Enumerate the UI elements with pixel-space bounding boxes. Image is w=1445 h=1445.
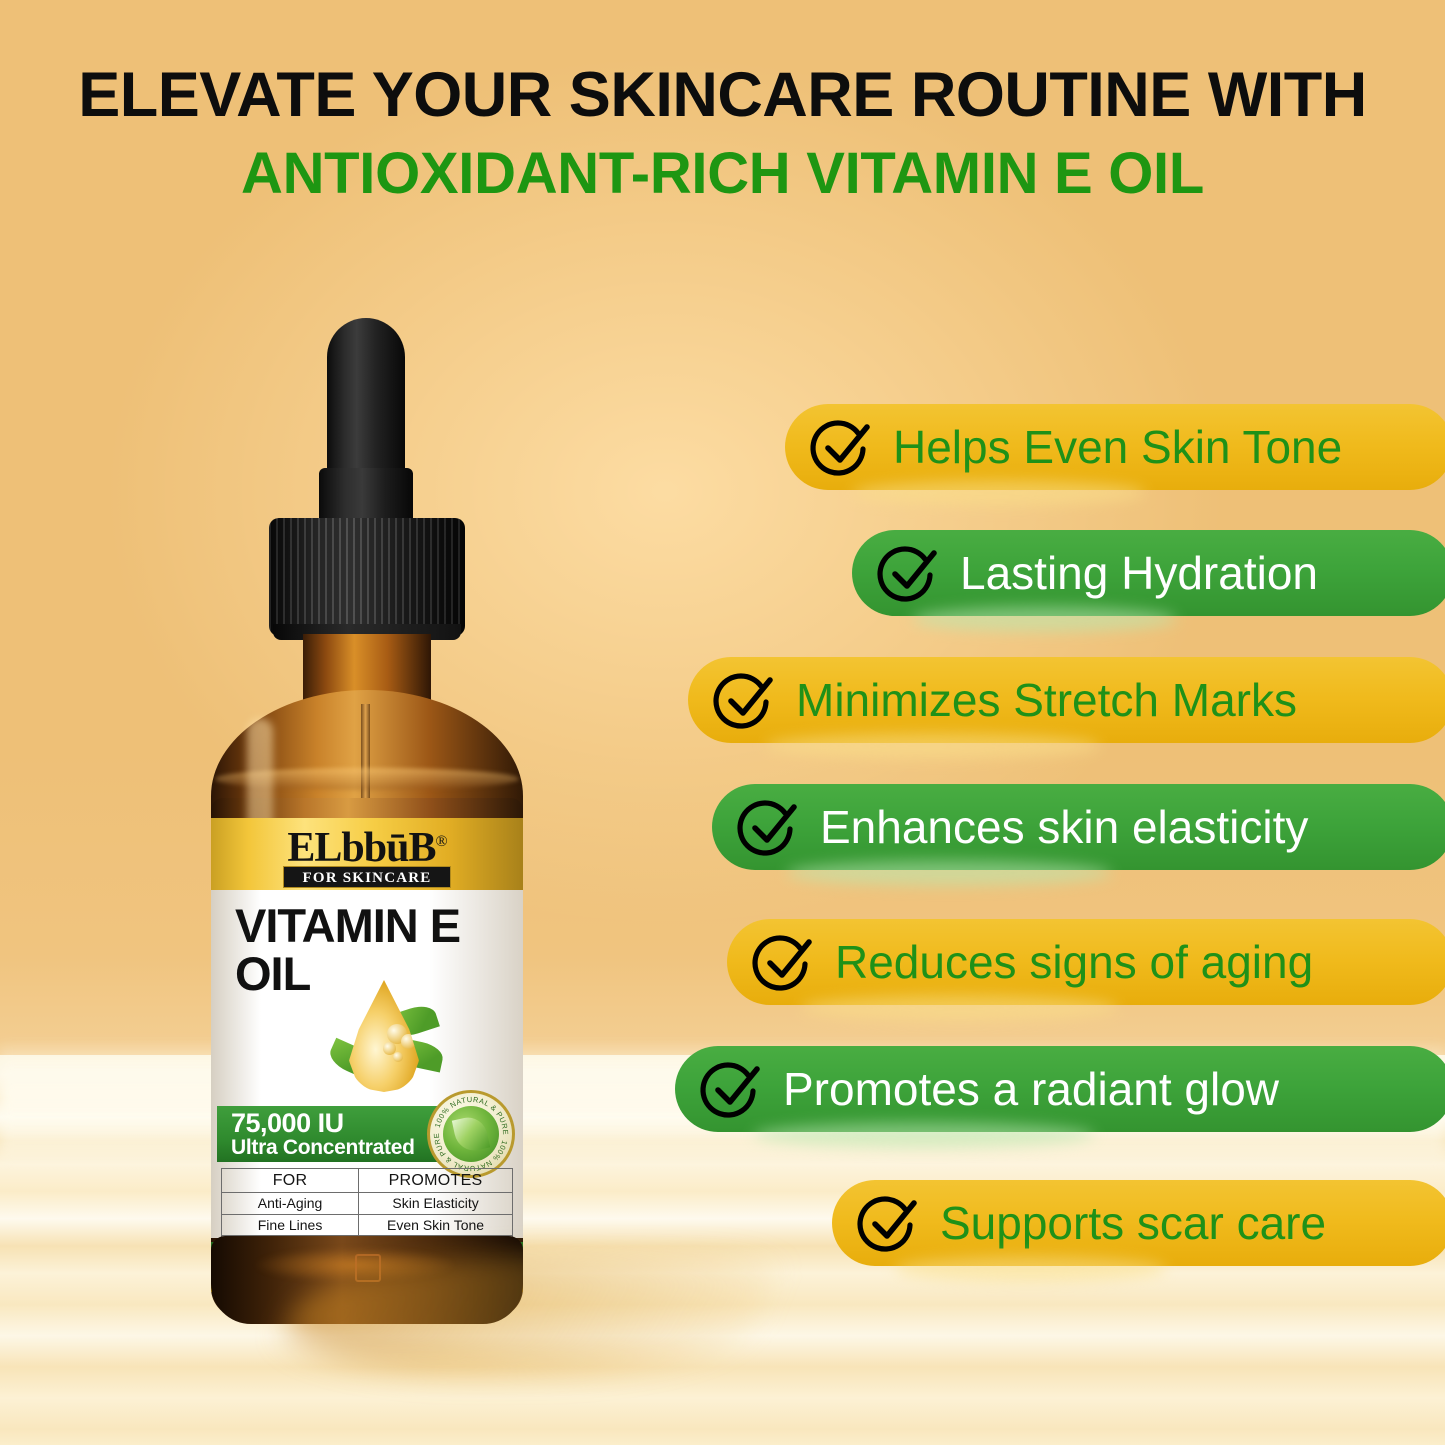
molecule-bubble [393,1052,403,1062]
benefit-label: Lasting Hydration [960,546,1318,600]
table-row: Anti-Aging Skin Elasticity [222,1193,513,1214]
benefit-label: Enhances skin elasticity [820,800,1308,854]
check-circle-icon [701,1057,765,1121]
table-header-promotes: PROMOTES [359,1169,513,1193]
table-cell-promotes: Even Skin Tone [359,1214,513,1235]
product-bottle: ELbbūB® FOR SKINCARE VITAMIN E OIL 75,00… [185,318,545,1338]
brand-text: ELbbūB [287,825,435,871]
check-circle-icon [738,795,802,859]
benefit-pill-2[interactable]: Lasting Hydration [852,530,1445,616]
benefit-pill-4[interactable]: Enhances skin elasticity [712,784,1445,870]
benefit-label: Supports scar care [940,1196,1326,1250]
check-circle-icon [753,930,817,994]
table-cell-for: Anti-Aging [222,1193,359,1214]
potency-value: 75,000 IU [231,1108,344,1139]
check-circle-icon [878,541,942,605]
trademark-symbol: ® [435,833,446,850]
oil-drop-graphic [335,980,431,1100]
table-header-row: FOR PROMOTES [222,1169,513,1193]
check-circle-icon [811,415,875,479]
benefit-label: Helps Even Skin Tone [893,420,1342,474]
table-cell-promotes: Skin Elasticity [359,1193,513,1214]
check-circle-icon [738,795,802,859]
benefit-pill-7[interactable]: Supports scar care [832,1180,1445,1266]
check-circle-icon [858,1191,922,1255]
benefit-label: Reduces signs of aging [835,935,1313,989]
headline-line-2: ANTIOXIDANT-RICH VITAMIN E OIL [0,143,1445,204]
benefit-label: Minimizes Stretch Marks [796,673,1297,727]
table-header-for: FOR [222,1169,359,1193]
natural-pure-seal: 100% NATURAL & PURE 100% NATURAL & PURE [427,1090,515,1178]
table-cell-for: Fine Lines [222,1214,359,1235]
droplet-icon [349,980,419,1092]
brand-name: ELbbūB® [211,824,523,872]
benefit-pill-1[interactable]: Helps Even Skin Tone [785,404,1445,490]
table-row: Fine Lines Even Skin Tone [222,1214,513,1235]
headline: ELEVATE YOUR SKINCARE ROUTINE WITH ANTIO… [0,62,1445,204]
seal-inner-circle [443,1106,499,1162]
check-circle-icon [811,415,875,479]
benefit-pill-6[interactable]: Promotes a radiant glow [675,1046,1445,1132]
product-infographic: ELEVATE YOUR SKINCARE ROUTINE WITH ANTIO… [0,0,1445,1445]
seal-leaf-icon [452,1114,490,1154]
check-circle-icon [701,1057,765,1121]
dropper-cap [269,518,465,636]
check-circle-icon [753,930,817,994]
potency-subtitle: Ultra Concentrated [231,1136,415,1160]
check-circle-icon [714,668,778,732]
bottle-label: ELbbūB® FOR SKINCARE VITAMIN E OIL 75,00… [211,818,523,1278]
check-circle-icon [714,668,778,732]
benefit-pill-5[interactable]: Reduces signs of aging [727,919,1445,1005]
check-circle-icon [878,541,942,605]
check-circle-icon [858,1191,922,1255]
benefit-pill-3[interactable]: Minimizes Stretch Marks [688,657,1445,743]
brand-tagline: FOR SKINCARE [283,866,451,888]
benefit-label: Promotes a radiant glow [783,1062,1279,1116]
headline-line-1: ELEVATE YOUR SKINCARE ROUTINE WITH [0,62,1445,129]
